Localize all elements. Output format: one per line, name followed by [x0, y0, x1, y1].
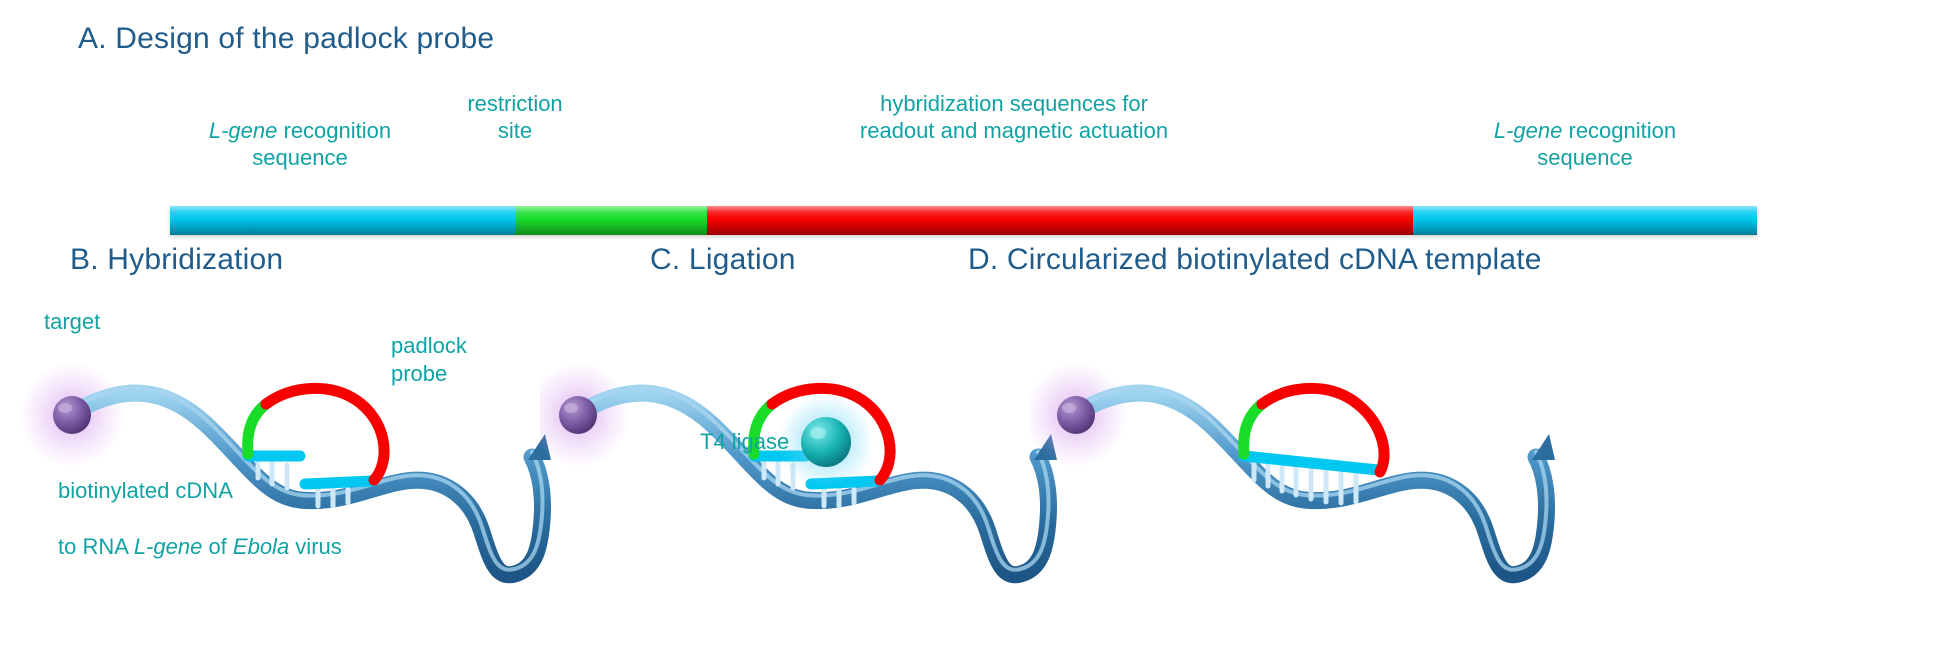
probe-segment-l-gene-right	[1413, 206, 1757, 235]
probe-segment-hybridization	[707, 206, 1413, 235]
segment-label-italic-l-gene-left: L-gene	[209, 118, 278, 143]
padlock-probe-bar	[170, 206, 1757, 235]
annotation-cdna-line2-mid: of	[202, 534, 233, 559]
probe-segment-restriction-site	[515, 206, 707, 235]
segment-label-restriction-site: restriction site	[402, 90, 628, 144]
panel-c-heading: C. Ligation	[650, 243, 796, 277]
panel-b-heading: B. Hybridization	[70, 243, 283, 277]
annotation-cdna-line2-pre: to RNA	[58, 534, 134, 559]
annotation-padlock-probe: padlock probe	[391, 332, 467, 388]
segment-label-hybridization: hybridization sequences for readout and …	[700, 90, 1328, 144]
segment-label-l-gene-right: L-gene recognitionsequence	[1400, 90, 1770, 171]
panel-d-heading: D. Circularized biotinylated cDNA templa…	[968, 243, 1542, 277]
panel-d-circularized-template-diagram	[1030, 282, 1690, 655]
panel-a-heading: A. Design of the padlock probe	[78, 22, 494, 56]
probe-segment-l-gene-left	[170, 206, 515, 235]
annotation-cdna-ebola: Ebola	[233, 534, 289, 559]
annotation-t4-ligase: T4 ligase	[700, 428, 789, 456]
figure-padlock-probe-schematic: A. Design of the padlock probe L-gene re…	[0, 0, 1939, 655]
annotation-cdna-line1: biotinylated cDNA	[58, 478, 233, 503]
segment-label-italic-l-gene-right: L-gene	[1494, 118, 1563, 143]
annotation-target: target	[44, 308, 100, 336]
annotation-cdna-l-gene: L-gene	[134, 534, 203, 559]
annotation-biotinylated-cdna: biotinylated cDNA to RNA L-gene of Ebola…	[58, 449, 342, 561]
dna-strand-icon	[1030, 282, 1690, 655]
annotation-cdna-line2-post: virus	[289, 534, 342, 559]
